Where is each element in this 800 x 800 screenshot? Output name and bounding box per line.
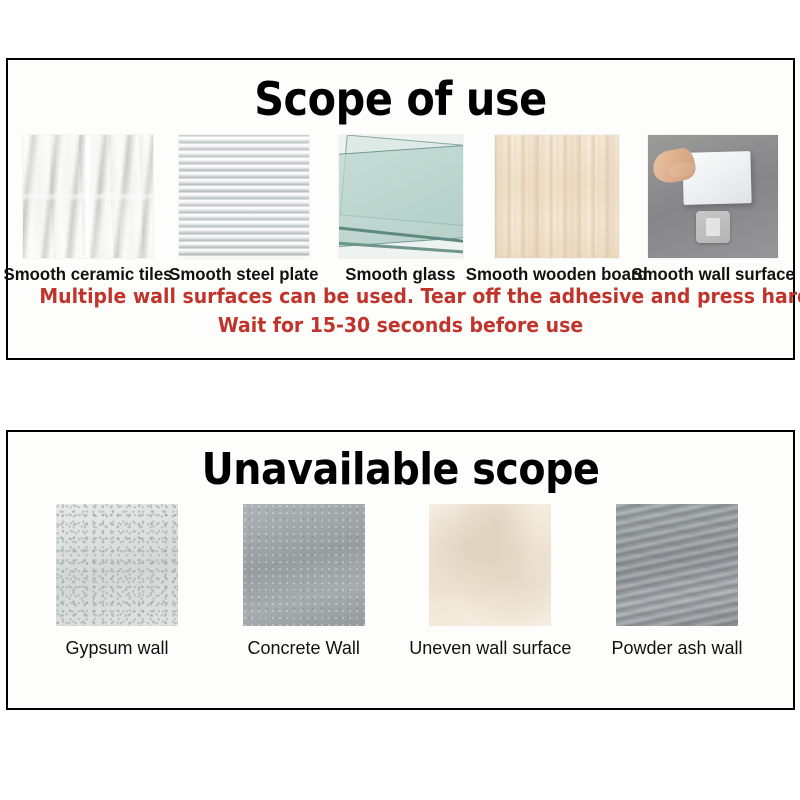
usage-instructions-line-1: Multiple wall surfaces can be used. Tear…	[39, 282, 761, 311]
scope-of-use-panel: Scope of use Smooth ceramic tiles Smooth…	[6, 58, 795, 360]
powder-ash-wall-photo	[616, 504, 738, 626]
scope-item-steel-plate: Smooth steel plate	[168, 134, 320, 285]
glass-edge	[338, 242, 464, 255]
unavailable-scope-panel: Unavailable scope Gypsum wall Concrete W…	[6, 430, 795, 710]
unavailable-item-concrete-wall: Concrete Wall	[219, 504, 389, 659]
unavailable-item-label: Gypsum wall	[65, 638, 168, 659]
scope-item-ceramic-tiles: Smooth ceramic tiles	[12, 134, 164, 285]
light-switch	[696, 211, 730, 243]
unavailable-item-label: Uneven wall surface	[409, 638, 571, 659]
wall-surface-photo	[647, 134, 779, 259]
infographic-sheet: Scope of use Smooth ceramic tiles Smooth…	[0, 0, 800, 800]
scope-item-wall-surface: Smooth wall surface	[637, 134, 789, 285]
steel-plate-photo	[178, 134, 310, 259]
unavailable-item-uneven-wall: Uneven wall surface	[405, 504, 575, 659]
scope-materials-row: Smooth ceramic tiles Smooth steel plate …	[8, 134, 793, 285]
unavailable-item-label: Concrete Wall	[247, 638, 359, 659]
concrete-wall-photo	[243, 504, 365, 626]
unavailable-scope-title: Unavailable scope	[47, 446, 754, 494]
unavailable-materials-row: Gypsum wall Concrete Wall Uneven wall su…	[32, 504, 762, 659]
gypsum-wall-photo	[56, 504, 178, 626]
unavailable-item-powder-ash-wall: Powder ash wall	[592, 504, 762, 659]
unavailable-item-label: Powder ash wall	[611, 638, 742, 659]
usage-instructions-line-2: Wait for 15-30 seconds before use	[39, 311, 761, 340]
usage-instructions: Multiple wall surfaces can be used. Tear…	[39, 282, 761, 340]
ceramic-tile-photo	[22, 134, 154, 259]
unavailable-item-gypsum-wall: Gypsum wall	[32, 504, 202, 659]
uneven-wall-photo	[429, 504, 551, 626]
wooden-board-photo	[494, 134, 620, 259]
scope-item-glass: Smooth glass	[325, 134, 477, 285]
glass-panes-photo	[338, 134, 464, 259]
scope-item-wooden-board: Smooth wooden board	[481, 134, 633, 285]
scope-of-use-title: Scope of use	[47, 74, 754, 124]
